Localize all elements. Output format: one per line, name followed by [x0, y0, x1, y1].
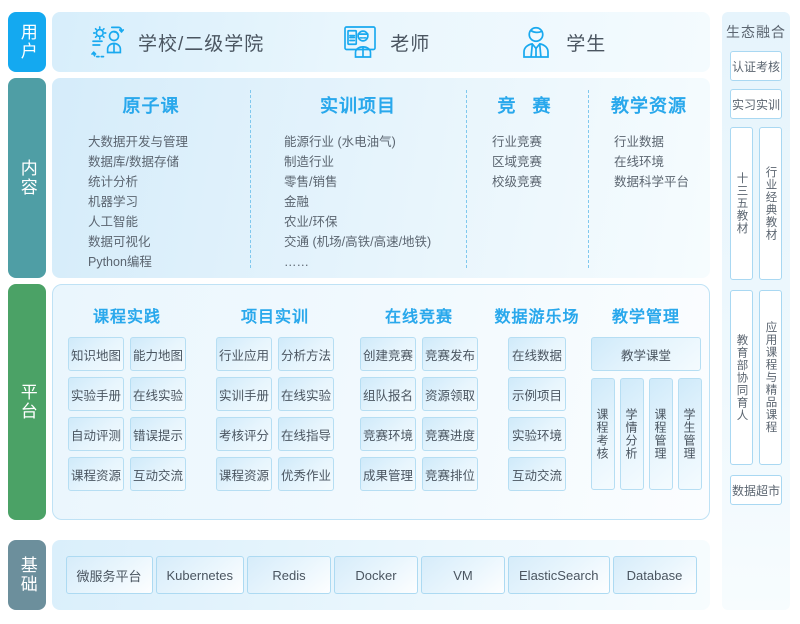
base-cell[interactable]: Redis: [247, 556, 331, 594]
platform-cell[interactable]: 在线指导: [278, 417, 334, 451]
platform-cell[interactable]: 行业应用: [216, 337, 272, 371]
base-cell[interactable]: Database: [613, 556, 697, 594]
platform-cell[interactable]: 创建竞赛: [360, 337, 416, 371]
base-band: 微服务平台 Kubernetes Redis Docker VM Elastic…: [52, 540, 710, 610]
right-panel-vertical-cell[interactable]: 应用课程与精品课程: [759, 290, 782, 465]
platform-vertical-cell[interactable]: 课程管理: [649, 378, 673, 490]
platform-column-teaching-management: 教学管理 教学课堂 课程考核 学情分析 课程管理 学生管理: [585, 295, 707, 491]
platform-cell[interactable]: 考核评分: [216, 417, 272, 451]
platform-cell[interactable]: 组队报名: [360, 377, 416, 411]
base-cell[interactable]: Kubernetes: [156, 556, 245, 594]
platform-vertical-cell[interactable]: 课程考核: [591, 378, 615, 490]
base-cell[interactable]: ElasticSearch: [508, 556, 609, 594]
rail-content-label: 内容: [17, 159, 37, 197]
right-panel-vertical-cell[interactable]: 教育部协同育人: [730, 290, 753, 465]
architecture-diagram: 用户 内容 平台 基础: [0, 0, 800, 624]
user-item-label: 学生: [566, 29, 606, 56]
right-panel-ecosystem: 生态融合 认证考核 实习实训 十三五教材 行业经典教材 教育部协同育人 应用课程…: [722, 12, 790, 610]
rail-base: 基础: [8, 540, 46, 610]
platform-column-course-practice: 课程实践 知识地图 能力地图 实验手册 在线实验 自动评测 错误提示 课程资源 …: [53, 295, 201, 491]
platform-cell[interactable]: 竞赛发布: [422, 337, 478, 371]
platform-column-project-training: 项目实训 行业应用 分析方法 实训手册 在线实验 考核评分 在线指导 课程资源 …: [201, 295, 349, 491]
content-list-item: 能源行业 (水电油气): [284, 132, 466, 152]
platform-cell[interactable]: 互动交流: [130, 457, 186, 491]
content-list-item: 农业/环保: [284, 212, 466, 232]
base-cell[interactable]: Docker: [334, 556, 418, 594]
content-list-item: 数据可视化: [88, 232, 250, 252]
platform-column-data-playground: 数据游乐场 在线数据 示例项目 实验环境 互动交流: [489, 295, 585, 491]
content-list: 大数据开发与管理 数据库/数据存储 统计分析 机器学习 人工智能 数据可视化 P…: [52, 132, 250, 272]
platform-cell[interactable]: 在线实验: [130, 377, 186, 411]
user-band: 学校/二级学院 老师: [52, 12, 710, 72]
right-panel-vertical-cell[interactable]: 十三五教材: [730, 127, 753, 280]
platform-cell[interactable]: 课程资源: [68, 457, 124, 491]
content-list-item: 数据库/数据存储: [88, 152, 250, 172]
platform-cell[interactable]: 成果管理: [360, 457, 416, 491]
content-list-item: Python编程: [88, 252, 250, 272]
content-column-title: 竞 赛: [466, 92, 588, 118]
right-panel-cell-data-market[interactable]: 数据超市: [730, 475, 782, 505]
content-column-competition: 竞 赛 行业竞赛 区域竞赛 校级竞赛: [466, 78, 588, 278]
content-list: 行业数据 在线环境 数据科学平台: [588, 132, 710, 192]
right-panel-vertical-cell[interactable]: 行业经典教材: [759, 127, 782, 280]
base-cell[interactable]: 微服务平台: [66, 556, 153, 594]
user-item-label: 学校/二级学院: [138, 29, 264, 56]
content-list-item: 行业数据: [614, 132, 710, 152]
user-item-label: 老师: [390, 29, 430, 56]
platform-band: 课程实践 知识地图 能力地图 实验手册 在线实验 自动评测 错误提示 课程资源 …: [52, 284, 710, 520]
platform-cell[interactable]: 知识地图: [68, 337, 124, 371]
platform-cell[interactable]: 互动交流: [508, 457, 566, 491]
platform-cell[interactable]: 在线实验: [278, 377, 334, 411]
platform-cell[interactable]: 实验环境: [508, 417, 566, 451]
platform-cell[interactable]: 分析方法: [278, 337, 334, 371]
content-list-item: 区域竞赛: [492, 152, 588, 172]
content-list-item: 统计分析: [88, 172, 250, 192]
platform-vertical-cell[interactable]: 学情分析: [620, 378, 644, 490]
teacher-board-icon: [342, 24, 378, 60]
content-list-item: 机器学习: [88, 192, 250, 212]
right-panel-vertical-group-programs: 教育部协同育人 应用课程与精品课程: [722, 290, 790, 465]
right-panel-vertical-group-textbooks: 十三五教材 行业经典教材: [722, 127, 790, 280]
platform-cell-grid: 知识地图 能力地图 实验手册 在线实验 自动评测 错误提示 课程资源 互动交流: [53, 337, 201, 491]
platform-cell[interactable]: 实验手册: [68, 377, 124, 411]
rail-content: 内容: [8, 78, 46, 278]
platform-cell-grid: 创建竞赛 竞赛发布 组队报名 资源领取 竞赛环境 竞赛进度 成果管理 竞赛排位: [349, 337, 489, 491]
content-band: 原子课 大数据开发与管理 数据库/数据存储 统计分析 机器学习 人工智能 数据可…: [52, 78, 710, 278]
platform-cell[interactable]: 竞赛排位: [422, 457, 478, 491]
content-list-item: 制造行业: [284, 152, 466, 172]
content-list-item: 人工智能: [88, 212, 250, 232]
rail-platform-label: 平台: [17, 383, 37, 421]
platform-cell[interactable]: 资源领取: [422, 377, 478, 411]
school-gear-person-icon: [90, 24, 126, 60]
right-panel-cell[interactable]: 实习实训: [730, 89, 782, 119]
platform-column-title: 课程实践: [53, 303, 201, 327]
platform-cell[interactable]: 在线数据: [508, 337, 566, 371]
platform-cell-wide[interactable]: 教学课堂: [591, 337, 701, 371]
rail-user-label: 用户: [17, 23, 37, 61]
user-item-student[interactable]: 学生: [518, 24, 606, 60]
content-column-title: 原子课: [52, 92, 250, 118]
right-panel-title: 生态融合: [722, 22, 790, 42]
content-column-title: 教学资源: [588, 92, 710, 118]
platform-column-title: 教学管理: [585, 303, 707, 327]
platform-column-online-competition: 在线竞赛 创建竞赛 竞赛发布 组队报名 资源领取 竞赛环境 竞赛进度 成果管理 …: [349, 295, 489, 491]
content-list-item: 大数据开发与管理: [88, 132, 250, 152]
user-item-school[interactable]: 学校/二级学院: [90, 24, 264, 60]
platform-cell[interactable]: 竞赛进度: [422, 417, 478, 451]
platform-cell[interactable]: 竞赛环境: [360, 417, 416, 451]
platform-vertical-cell[interactable]: 学生管理: [678, 378, 702, 490]
content-list-item: ……: [284, 252, 466, 272]
platform-cell[interactable]: 实训手册: [216, 377, 272, 411]
platform-cell-grid: 行业应用 分析方法 实训手册 在线实验 考核评分 在线指导 课程资源 优秀作业: [201, 337, 349, 491]
rail-base-label: 基础: [17, 556, 37, 594]
content-column-atomic-course: 原子课 大数据开发与管理 数据库/数据存储 统计分析 机器学习 人工智能 数据可…: [52, 78, 250, 278]
platform-column-title: 在线竞赛: [349, 303, 489, 327]
right-panel-cell[interactable]: 认证考核: [730, 51, 782, 81]
platform-column-title: 数据游乐场: [489, 303, 585, 327]
platform-cell[interactable]: 错误提示: [130, 417, 186, 451]
content-column-teaching-resource: 教学资源 行业数据 在线环境 数据科学平台: [588, 78, 710, 278]
student-person-icon: [518, 24, 554, 60]
content-list-item: 数据科学平台: [614, 172, 710, 192]
content-list-item: 行业竞赛: [492, 132, 588, 152]
platform-vertical-cell-row: 课程考核 学情分析 课程管理 学生管理: [585, 378, 707, 490]
content-list: 能源行业 (水电油气) 制造行业 零售/销售 金融 农业/环保 交通 (机场/高…: [250, 132, 466, 272]
platform-cell-grid: 在线数据 示例项目 实验环境 互动交流: [489, 337, 585, 491]
content-list: 行业竞赛 区域竞赛 校级竞赛: [466, 132, 588, 192]
content-list-item: 在线环境: [614, 152, 710, 172]
content-column-training-project: 实训项目 能源行业 (水电油气) 制造行业 零售/销售 金融 农业/环保 交通 …: [250, 78, 466, 278]
base-cell[interactable]: VM: [421, 556, 505, 594]
platform-cell[interactable]: 自动评测: [68, 417, 124, 451]
platform-column-title: 项目实训: [201, 303, 349, 327]
content-list-item: 零售/销售: [284, 172, 466, 192]
content-column-title: 实训项目: [250, 92, 466, 118]
rail-platform: 平台: [8, 284, 46, 520]
content-list-item: 校级竞赛: [492, 172, 588, 192]
content-list-item: 交通 (机场/高铁/高速/地铁): [284, 232, 466, 252]
content-list-item: 金融: [284, 192, 466, 212]
user-item-teacher[interactable]: 老师: [342, 24, 430, 60]
rail-user: 用户: [8, 12, 46, 72]
platform-cell[interactable]: 示例项目: [508, 377, 566, 411]
platform-cell[interactable]: 课程资源: [216, 457, 272, 491]
platform-cell[interactable]: 优秀作业: [278, 457, 334, 491]
platform-cell[interactable]: 能力地图: [130, 337, 186, 371]
